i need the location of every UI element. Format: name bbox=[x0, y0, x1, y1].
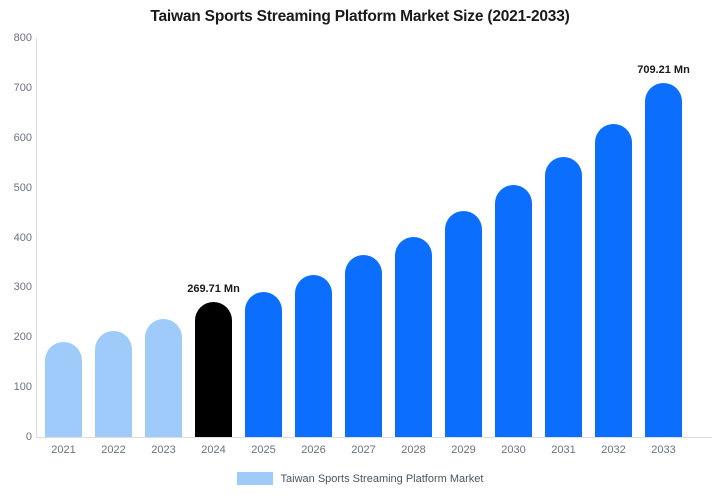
x-axis-tick-label-2024: 2024 bbox=[189, 444, 239, 456]
x-axis-tick-label-2023: 2023 bbox=[139, 444, 189, 456]
y-axis-tick-label: 300 bbox=[2, 281, 32, 293]
bar-2026[interactable] bbox=[295, 275, 332, 437]
bar-2021[interactable] bbox=[45, 342, 82, 437]
legend-label-taiwan-sports-streaming-platform-market: Taiwan Sports Streaming Platform Market bbox=[281, 473, 484, 485]
x-axis-tick-label-2033: 2033 bbox=[639, 444, 689, 456]
x-axis-tick-label-2028: 2028 bbox=[389, 444, 439, 456]
bar-2031[interactable] bbox=[545, 157, 582, 437]
x-axis-tick-label-2032: 2032 bbox=[589, 444, 639, 456]
x-axis-tick-label-2022: 2022 bbox=[89, 444, 139, 456]
bar-value-label-2024: 269.71 Mn bbox=[187, 283, 240, 295]
y-axis-tick-label: 800 bbox=[2, 32, 32, 44]
y-axis-tick-label: 500 bbox=[2, 182, 32, 194]
bar-2032[interactable] bbox=[595, 124, 632, 437]
x-axis-line bbox=[36, 437, 712, 438]
chart-title: Taiwan Sports Streaming Platform Market … bbox=[0, 8, 720, 26]
legend-swatch-taiwan-sports-streaming-platform-market bbox=[237, 472, 273, 485]
bar-2022[interactable] bbox=[95, 331, 132, 437]
bar-2027[interactable] bbox=[345, 255, 382, 437]
x-axis-tick-label-2030: 2030 bbox=[489, 444, 539, 456]
y-axis-tick-label: 100 bbox=[2, 381, 32, 393]
x-axis-tick-label-2025: 2025 bbox=[239, 444, 289, 456]
y-axis-tick-label: 0 bbox=[2, 431, 32, 443]
y-axis-line bbox=[36, 38, 37, 438]
chart-legend: Taiwan Sports Streaming Platform Market bbox=[0, 472, 720, 485]
x-axis-tick-label-2026: 2026 bbox=[289, 444, 339, 456]
bar-2023[interactable] bbox=[145, 319, 182, 437]
x-axis-tick-label-2031: 2031 bbox=[539, 444, 589, 456]
bar-value-label-2033: 709.21 Mn bbox=[637, 64, 690, 76]
x-axis-tick-label-2021: 2021 bbox=[39, 444, 89, 456]
bar-2024[interactable] bbox=[195, 302, 232, 437]
y-axis-tick-label: 700 bbox=[2, 82, 32, 94]
y-axis-tick-label: 600 bbox=[2, 132, 32, 144]
y-axis-tick-label: 200 bbox=[2, 331, 32, 343]
chart-container: Taiwan Sports Streaming Platform Market … bbox=[0, 0, 720, 500]
bar-2033[interactable] bbox=[645, 83, 682, 437]
x-axis-tick-label-2029: 2029 bbox=[439, 444, 489, 456]
y-axis-labels: 8007006005004003002001000 bbox=[0, 0, 32, 500]
bar-2025[interactable] bbox=[245, 292, 282, 437]
bar-2028[interactable] bbox=[395, 237, 432, 437]
bar-2030[interactable] bbox=[495, 185, 532, 437]
y-axis-tick-label: 400 bbox=[2, 232, 32, 244]
bar-2029[interactable] bbox=[445, 211, 482, 437]
x-axis-tick-label-2027: 2027 bbox=[339, 444, 389, 456]
